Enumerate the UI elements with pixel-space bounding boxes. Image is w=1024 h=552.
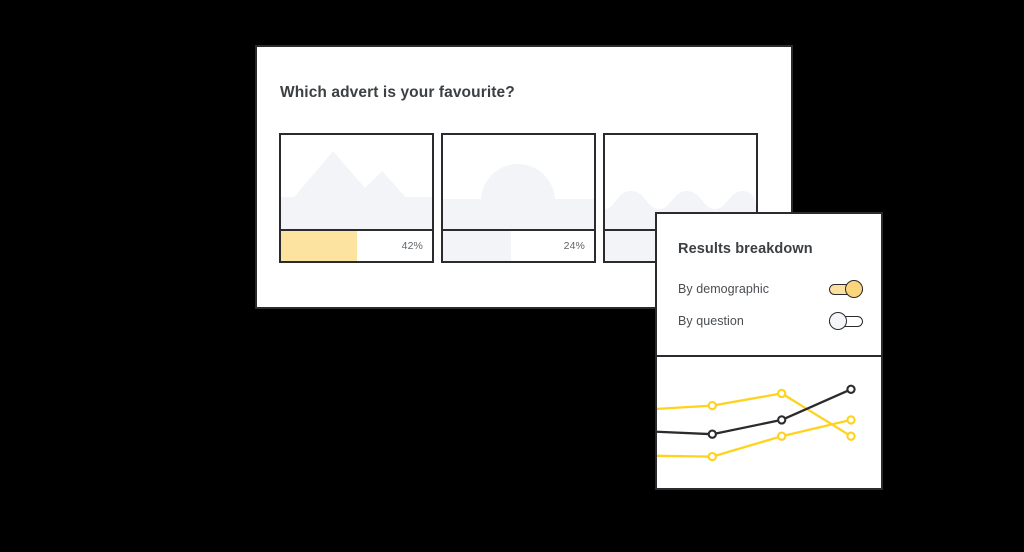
toggle-label-by-demographic: By demographic (678, 282, 769, 296)
advert-artwork-1 (281, 135, 432, 229)
results-breakdown-header: Results breakdown By demographic By ques… (657, 214, 881, 357)
chart-marker-series-black-1 (709, 431, 716, 438)
chart-marker-series-yellow-upper-1 (709, 402, 716, 409)
chart-marker-series-yellow-lower-2 (778, 433, 785, 440)
screen: Which advert is your favourite? 42% (0, 0, 1024, 552)
advert-option-1[interactable]: 42% (279, 133, 434, 263)
toggle-label-by-question: By question (678, 314, 744, 328)
chart-marker-series-black-2 (778, 416, 785, 423)
advert-result-bar-1: 42% (281, 229, 432, 261)
trend-chart-svg (657, 357, 881, 488)
toggle-knob-by-question (829, 312, 847, 330)
page-title: Which advert is your favourite? (280, 84, 515, 102)
mountains-icon (281, 135, 432, 229)
results-breakdown-panel: Results breakdown By demographic By ques… (655, 212, 883, 490)
toggle-by-question[interactable] (829, 312, 863, 330)
chart-marker-series-yellow-lower-3 (847, 416, 854, 423)
toggle-row-by-question[interactable]: By question (678, 312, 863, 330)
chart-marker-series-black-3 (847, 386, 854, 393)
advert-result-fill-2 (443, 231, 511, 261)
advert-option-2[interactable]: 24% (441, 133, 596, 263)
chart-marker-series-yellow-lower-1 (709, 453, 716, 460)
chart-marker-series-yellow-upper-2 (778, 390, 785, 397)
advert-result-percent-2: 24% (564, 240, 585, 252)
toggle-by-demographic[interactable] (829, 280, 863, 298)
results-breakdown-title: Results breakdown (678, 241, 813, 257)
chart-marker-series-yellow-upper-3 (847, 433, 854, 440)
chart-line-series-yellow-upper (657, 393, 851, 436)
results-trend-chart (657, 357, 881, 488)
toggle-row-by-demographic[interactable]: By demographic (678, 280, 863, 298)
advert-result-percent-1: 42% (402, 240, 423, 252)
advert-artwork-2 (443, 135, 594, 229)
advert-result-fill-1 (281, 231, 357, 261)
toggle-knob-by-demographic (845, 280, 863, 298)
sunrise-icon (443, 135, 594, 229)
advert-result-bar-2: 24% (443, 229, 594, 261)
